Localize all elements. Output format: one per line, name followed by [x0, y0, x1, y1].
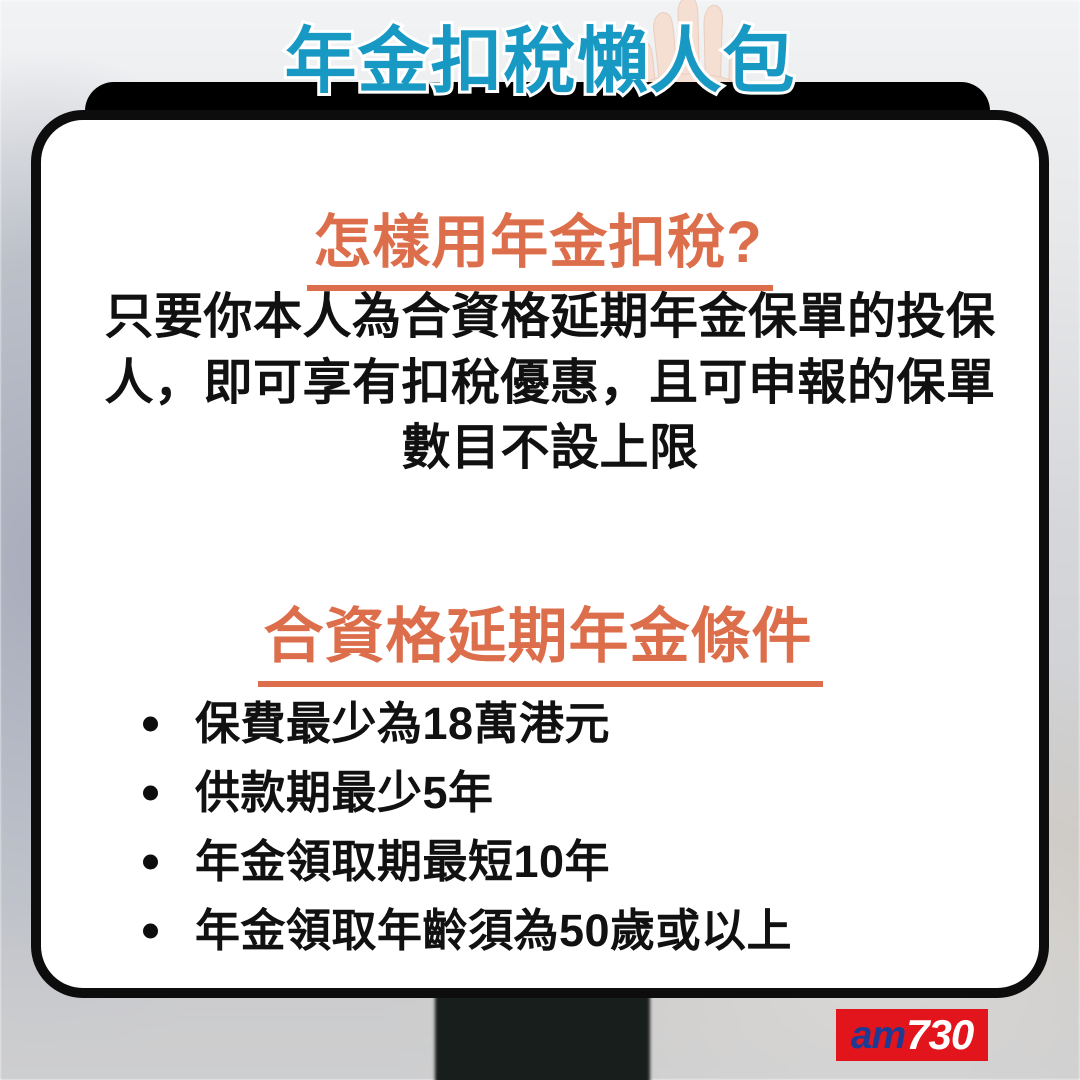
heading-qualifying-conditions: 合資格延期年金條件 [41, 588, 1039, 687]
am730-logo: am 730 [836, 1009, 988, 1061]
bullet-dot-icon [143, 786, 158, 801]
logo-am-text: am [851, 1016, 905, 1055]
heading-qualifying-conditions-text: 合資格延期年金條件 [258, 588, 823, 687]
conditions-list: 保費最少為18萬港元 供款期最少5年 年金領取期最短10年 年金領取年齡須為50… [133, 690, 1013, 965]
content-card: 怎樣用年金扣稅? 只要你本人為合資格延期年金保單的投保人，即可享有扣稅優惠，且可… [31, 110, 1049, 998]
page-title: 年金扣稅懶人包 [0, 26, 1080, 98]
heading-how-to-deduct-text: 怎樣用年金扣稅? [307, 195, 772, 291]
list-item-label: 年金領取期最短10年 [195, 836, 610, 887]
logo-730-text: 730 [906, 1014, 973, 1056]
bullet-dot-icon [143, 923, 158, 938]
list-item-label: 供款期最少5年 [195, 767, 494, 818]
body-paragraph: 只要你本人為合資格延期年金保單的投保人，即可享有扣稅優惠，且可申報的保單數目不設… [98, 285, 1002, 482]
list-item: 保費最少為18萬港元 [133, 690, 1013, 759]
list-item-label: 保費最少為18萬港元 [195, 698, 610, 749]
heading-how-to-deduct: 怎樣用年金扣稅? [41, 195, 1039, 291]
bullet-dot-icon [143, 717, 158, 732]
list-item: 供款期最少5年 [133, 759, 1013, 828]
list-item: 年金領取年齡須為50歲或以上 [133, 897, 1013, 966]
list-item-label: 年金領取年齡須為50歲或以上 [195, 905, 792, 956]
list-item: 年金領取期最短10年 [133, 828, 1013, 897]
bullet-dot-icon [143, 855, 158, 870]
